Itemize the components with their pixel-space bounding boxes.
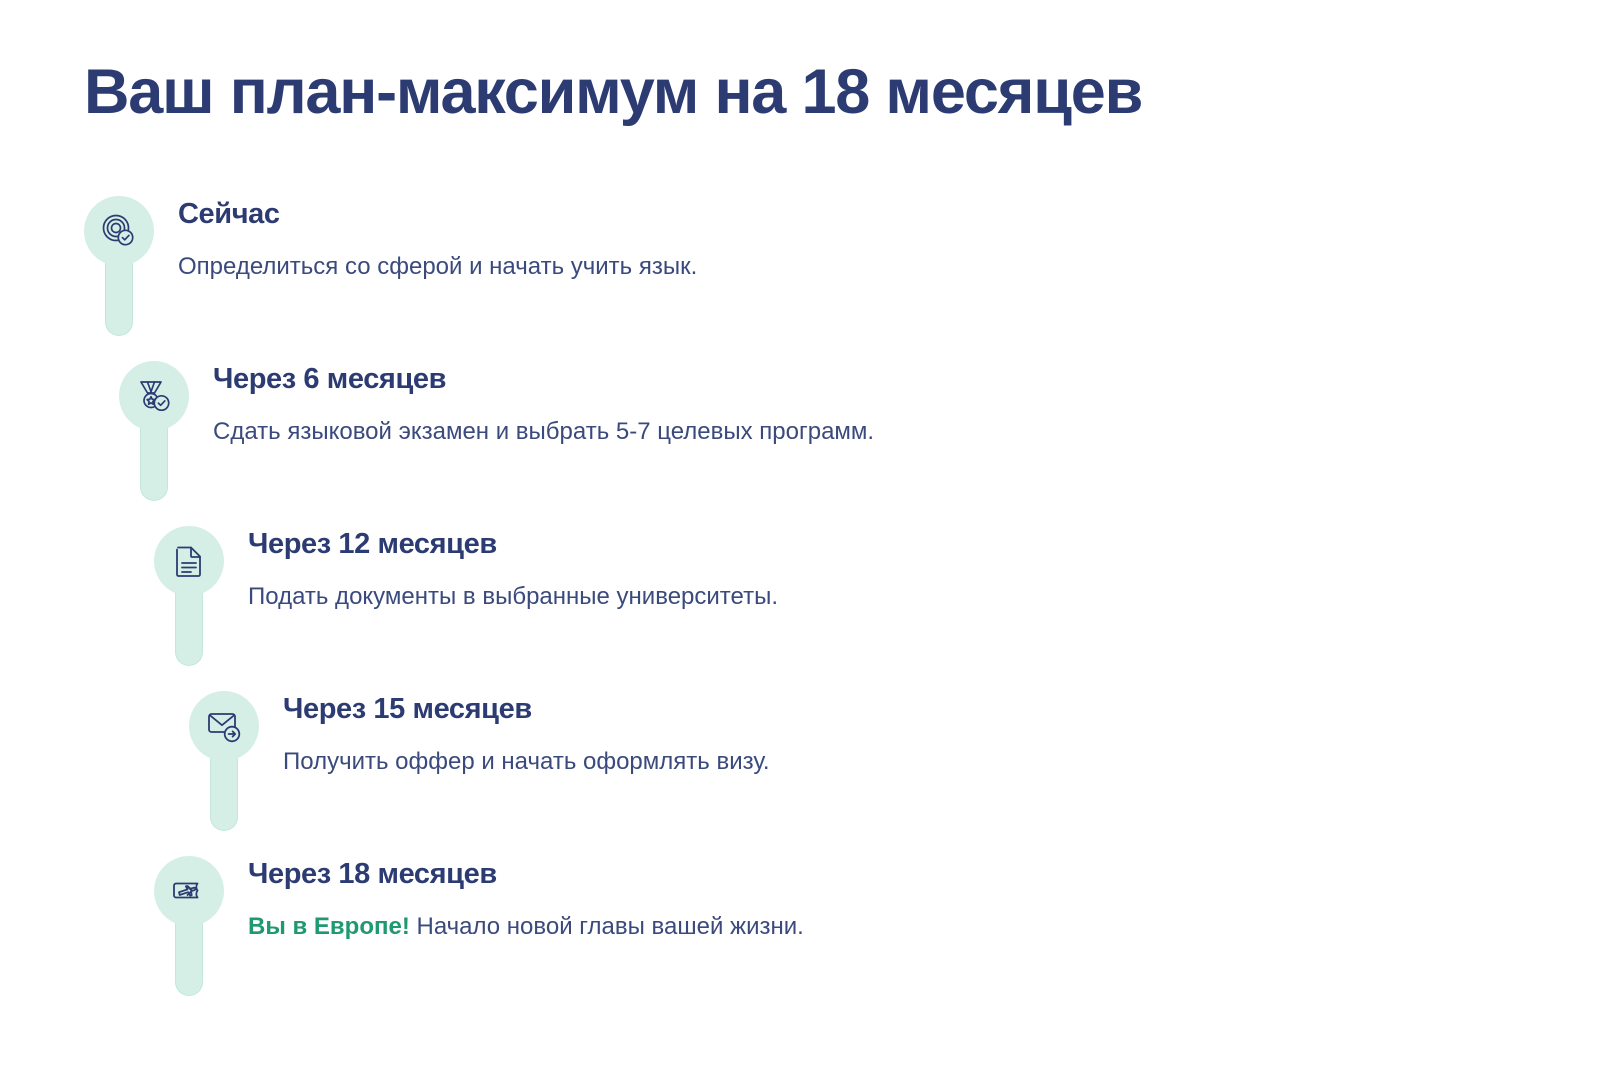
- timeline-item: Сейчас Определиться со сферой и начать у…: [0, 196, 1600, 361]
- plane-ticket-icon: [171, 874, 207, 908]
- document-icon: [172, 544, 206, 578]
- timeline-heading: Через 15 месяцев: [283, 693, 770, 726]
- timeline-description: Сдать языковой экзамен и выбрать 5-7 цел…: [213, 416, 874, 447]
- pin-circle: [189, 691, 259, 761]
- timeline-item: Через 6 месяцев Сдать языковой экзамен и…: [0, 361, 1600, 526]
- timeline-description: Определиться со сферой и начать учить яз…: [178, 251, 697, 282]
- timeline: Сейчас Определиться со сферой и начать у…: [0, 196, 1600, 1021]
- pin-circle: [119, 361, 189, 431]
- pin-circle: [84, 196, 154, 266]
- timeline-description: Подать документы в выбранные университет…: [248, 581, 778, 612]
- target-check-icon: [101, 213, 137, 249]
- timeline-description: Получить оффер и начать оформлять визу.: [283, 746, 770, 777]
- envelope-arrow-icon: [206, 708, 242, 744]
- timeline-pin: [84, 196, 154, 336]
- timeline-pin: [154, 526, 224, 666]
- timeline-text: Сейчас Определиться со сферой и начать у…: [178, 198, 697, 283]
- timeline-pin: [189, 691, 259, 831]
- timeline-pin: [154, 856, 224, 996]
- timeline-heading: Через 6 месяцев: [213, 363, 874, 396]
- medal-check-icon: [136, 378, 172, 414]
- slide-root: Ваш план-максимум на 18 месяцев: [0, 0, 1600, 1070]
- timeline-text: Через 6 месяцев Сдать языковой экзамен и…: [213, 363, 874, 448]
- timeline-text: Через 12 месяцев Подать документы в выбр…: [248, 528, 778, 613]
- timeline-description-accent: Вы в Европе!: [248, 913, 410, 940]
- timeline-description: Вы в Европе! Начало новой главы вашей жи…: [248, 911, 804, 942]
- timeline-heading: Сейчас: [178, 198, 697, 231]
- pin-circle: [154, 856, 224, 926]
- timeline-text: Через 18 месяцев Вы в Европе! Начало нов…: [248, 858, 804, 943]
- timeline-item: Через 12 месяцев Подать документы в выбр…: [0, 526, 1600, 691]
- page-title: Ваш план-максимум на 18 месяцев: [84, 58, 1142, 126]
- pin-circle: [154, 526, 224, 596]
- timeline-description-rest: Начало новой главы вашей жизни.: [410, 913, 804, 940]
- timeline-text: Через 15 месяцев Получить оффер и начать…: [283, 693, 770, 778]
- timeline-item: Через 15 месяцев Получить оффер и начать…: [0, 691, 1600, 856]
- timeline-heading: Через 12 месяцев: [248, 528, 778, 561]
- timeline-item: Через 18 месяцев Вы в Европе! Начало нов…: [0, 856, 1600, 1021]
- timeline-heading: Через 18 месяцев: [248, 858, 804, 891]
- timeline-pin: [119, 361, 189, 501]
